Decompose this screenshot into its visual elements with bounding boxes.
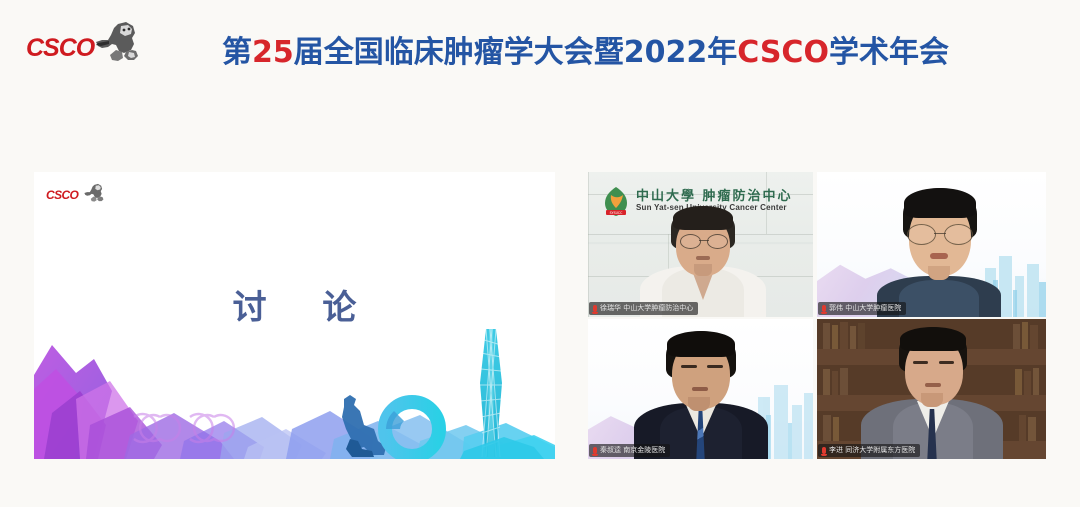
participant-name-badge: 郭伟 中山大学肿瘤医院: [818, 302, 906, 315]
slide-decorative-footer: [34, 329, 555, 459]
video-conference-grid: SYSUCC 中山大學 肿瘤防治中心 Sun Yat-sen Universit…: [588, 172, 1046, 459]
video-tile-bottom-right[interactable]: 李进 同济大学附属东方医院: [817, 319, 1046, 459]
page-header: CSCO 第25届全国临床肿瘤学大会暨2022: [0, 0, 1080, 92]
participant-silhouette: [817, 319, 1046, 459]
csco-wordmark: CSCO: [26, 36, 94, 61]
participant-name-badge: 徐瑞华 中山大学肿瘤防治中心: [589, 302, 698, 315]
participant-silhouette: [817, 172, 1046, 317]
mic-icon: [593, 305, 597, 312]
participant-name: 郭伟 中山大学肿瘤医院: [829, 305, 901, 312]
title-part-0: 第: [222, 35, 252, 70]
slide-csco-logo: CSCO: [46, 183, 108, 203]
lion-emblem-icon: [88, 20, 142, 69]
video-tile-bottom-left[interactable]: 秦叔逵 南京金陵医院: [588, 319, 813, 459]
mic-icon: [593, 447, 597, 454]
participant-name: 李进 同济大学附属东方医院: [829, 447, 915, 454]
participant-name-badge: 秦叔逵 南京金陵医院: [589, 444, 670, 457]
title-part-5: CSCO: [737, 35, 829, 70]
slide-csco-wordmark: CSCO: [46, 189, 78, 201]
video-tile-top-left[interactable]: SYSUCC 中山大學 肿瘤防治中心 Sun Yat-sen Universit…: [588, 172, 813, 317]
participant-name-badge: 李进 同济大学附属东方医院: [818, 444, 920, 457]
title-part-2: 届全国临床肿瘤学大会暨: [294, 35, 624, 70]
title-part-1: 25: [252, 35, 294, 70]
video-tile-top-right[interactable]: 郭伟 中山大学肿瘤医院: [817, 172, 1046, 317]
title-part-6: 学术年会: [829, 35, 949, 70]
slide-title: 讨 论: [34, 280, 555, 329]
mic-icon: [822, 447, 826, 454]
page-title: 第25届全国临床肿瘤学大会暨2022年CSCO学术年会: [222, 27, 949, 71]
participant-name: 徐瑞华 中山大学肿瘤防治中心: [600, 305, 693, 312]
title-part-4: 年: [707, 35, 737, 70]
participant-silhouette: [588, 172, 813, 317]
presentation-slide[interactable]: CSCO 讨 论: [34, 172, 555, 459]
participant-name: 秦叔逵 南京金陵医院: [600, 447, 665, 454]
title-part-3: 2022: [624, 35, 708, 70]
csco-logo: CSCO: [26, 19, 144, 71]
slide-lion-emblem-icon: [79, 183, 107, 208]
participant-silhouette: [588, 319, 813, 459]
mic-icon: [822, 305, 826, 312]
